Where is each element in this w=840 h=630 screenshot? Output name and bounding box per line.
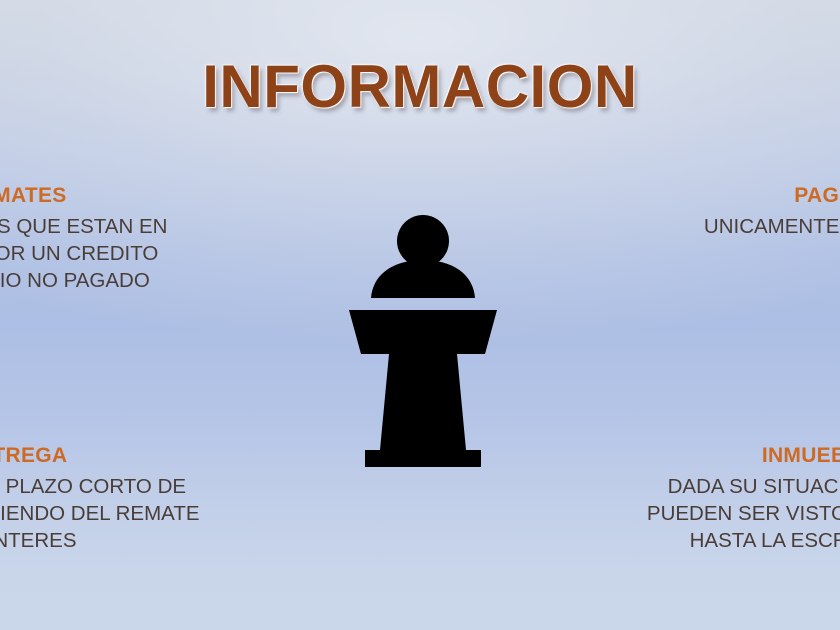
podium-speaker-icon <box>335 188 515 478</box>
block-heading-entrega: ENTREGA <box>0 442 230 470</box>
text-block-pago: PAGO UNICAMENTE CONTADO <box>610 182 840 240</box>
presentation-slide: INFORMACION REMATES PROPIEDADES QUE ESTA… <box>0 0 840 630</box>
title-container: INFORMACION <box>0 52 840 121</box>
page-title: INFORMACION <box>202 52 637 121</box>
block-line: DADA SU SITUACION LEGAL NO <box>610 473 840 500</box>
text-block-inmuebles: INMUEBLES DADA SU SITUACION LEGAL NO PUE… <box>610 442 840 554</box>
block-line: UNICAMENTE CONTADO <box>610 213 840 240</box>
block-line: HIPOTECARIO NO PAGADO <box>0 267 230 294</box>
block-line: HASTA LA ESCRITURACION <box>610 527 840 554</box>
text-block-remates: REMATES PROPIEDADES QUE ESTAN EN GARANTI… <box>0 182 230 294</box>
block-heading-inmuebles: INMUEBLES <box>610 442 840 470</box>
block-line: GARANTIA POR UN CREDITO <box>0 240 230 267</box>
block-line: DE INTERES <box>0 527 230 554</box>
block-heading-pago: PAGO <box>610 182 840 210</box>
block-line: TIEMPO DEPENDIENDO DEL REMATE <box>0 500 230 527</box>
block-line: PUEDEN SER VISTOS POR DENTRO <box>610 500 840 527</box>
block-line: PROPIEDADES QUE ESTAN EN <box>0 213 230 240</box>
text-block-entrega: ENTREGA DENTRO DE UN PLAZO CORTO DE TIEM… <box>0 442 230 554</box>
block-heading-remates: REMATES <box>0 182 230 210</box>
block-line: DENTRO DE UN PLAZO CORTO DE <box>0 473 230 500</box>
